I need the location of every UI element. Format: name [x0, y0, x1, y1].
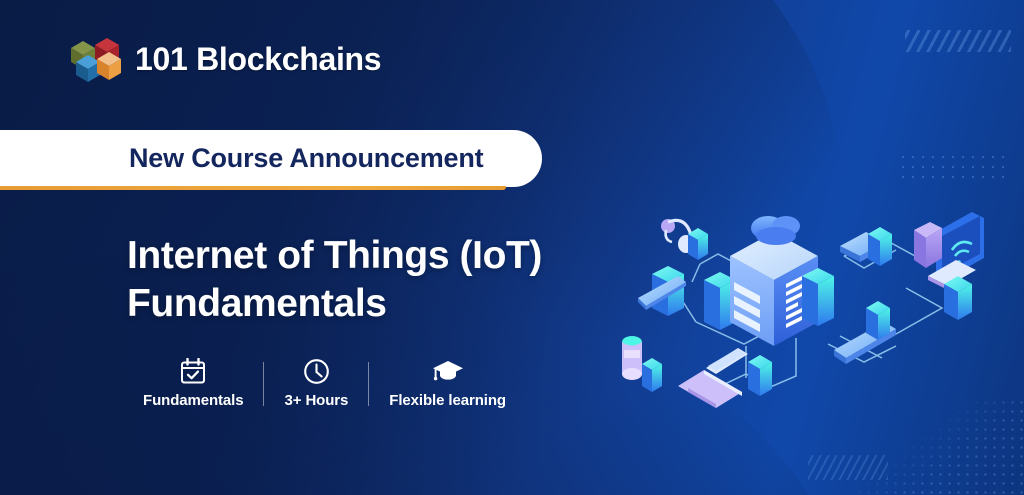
feature-label-hours: 3+ Hours [284, 392, 348, 409]
course-title: Internet of Things (IoT) Fundamentals [127, 232, 647, 328]
course-title-line-2: Fundamentals [127, 280, 647, 328]
brand-logo[interactable]: 101 Blockchains [68, 33, 381, 85]
pillar-watch [642, 358, 662, 392]
course-announcement-banner: 101 Blockchains New Course Announcement … [0, 0, 1024, 495]
pillar-under-headset [688, 228, 708, 260]
announcement-label: New Course Announcement [129, 143, 483, 174]
pillar-laptop [748, 355, 772, 396]
announcement-ribbon: New Course Announcement [0, 130, 542, 187]
monitor-with-wifi [914, 212, 984, 290]
diagonal-stripes-top-right-icon [905, 30, 1011, 52]
brand-name: 101 Blockchains [135, 41, 381, 78]
four-cubes-logo-icon [68, 33, 122, 85]
server-pillar-mid-right [802, 268, 834, 326]
pillar-monitor [944, 276, 972, 320]
ribbon-accent-underline [0, 186, 506, 190]
pillar-phone [866, 301, 890, 340]
feature-divider-1 [263, 362, 264, 406]
pillar-router [868, 227, 892, 266]
graduation-cap-icon [432, 356, 464, 386]
feature-item-hours: 3+ Hours [268, 356, 364, 409]
feature-item-fundamentals: Fundamentals [127, 356, 259, 409]
iot-network-isometric-illustration [596, 196, 1024, 456]
feature-divider-2 [368, 362, 369, 406]
feature-list: Fundamentals 3+ Hours [127, 356, 522, 409]
calendar-check-icon [180, 356, 206, 386]
smartwatch [622, 336, 642, 380]
feature-label-fundamentals: Fundamentals [143, 392, 243, 409]
dot-grid-middle-right-icon [898, 152, 1010, 180]
course-title-line-1: Internet of Things (IoT) [127, 232, 647, 280]
feature-item-flexible-learning: Flexible learning [373, 356, 522, 409]
feature-label-flexible-learning: Flexible learning [389, 392, 506, 409]
clock-icon [303, 356, 330, 386]
